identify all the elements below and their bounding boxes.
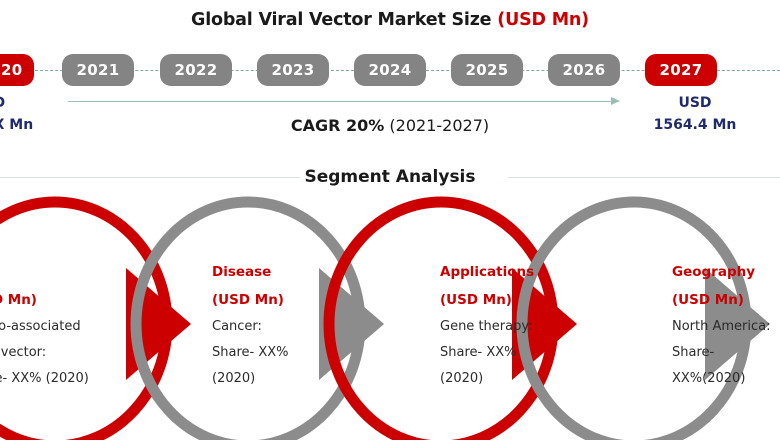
- segment-unit-type: (USD Mn): [0, 286, 140, 314]
- year-badge-2023[interactable]: 2023: [257, 54, 329, 86]
- segment-body-applications-line3: (2020): [440, 366, 570, 392]
- segment-body-type-line1: Adeno-associated: [0, 314, 140, 340]
- cagr-label: CAGR 20% (2021-2027): [0, 116, 780, 135]
- segment-body-geography-line3: XX%(2020): [672, 366, 780, 392]
- segment-text-type: Type (USD Mn) Adeno-associated virus vec…: [0, 258, 140, 392]
- year-badge-2024[interactable]: 2024: [354, 54, 426, 86]
- segment-body-disease-line1: Cancer:: [212, 314, 342, 340]
- segment-body-disease: Cancer: Share- XX% (2020): [212, 314, 342, 392]
- segment-body-geography: North America: Share- XX%(2020): [672, 314, 780, 392]
- cagr-arrow: [68, 96, 620, 108]
- year-badge-2024-label: 2024: [369, 61, 412, 79]
- market-value-start-line1: USD: [0, 92, 42, 114]
- segment-body-geography-line1: North America:: [672, 314, 780, 340]
- year-badge-2021[interactable]: 2021: [62, 54, 134, 86]
- segment-body-type: Adeno-associated virus vector: Share- XX…: [0, 314, 140, 392]
- segment-name-disease: Disease: [212, 258, 342, 286]
- segment-body-applications-line2: Share- XX%: [440, 340, 570, 366]
- year-badge-2022-label: 2022: [175, 61, 218, 79]
- year-timeline: 2020 2021 2022 2023 2024 2025 2026 2027: [0, 54, 780, 88]
- segment-body-applications: Gene therapy: Share- XX% (2020): [440, 314, 570, 392]
- segment-body-applications-line1: Gene therapy:: [440, 314, 570, 340]
- segment-unit-disease: (USD Mn): [212, 286, 342, 314]
- market-value-end-line1: USD: [645, 92, 745, 114]
- year-badge-2020[interactable]: 2020: [0, 54, 34, 86]
- year-badge-2027[interactable]: 2027: [645, 54, 717, 86]
- year-badge-2023-label: 2023: [272, 61, 315, 79]
- market-size-title-unit: (USD Mn): [497, 10, 589, 30]
- year-badge-2021-label: 2021: [77, 61, 120, 79]
- segment-text-applications: Applications (USD Mn) Gene therapy: Shar…: [440, 258, 570, 392]
- market-size-title: Global Viral Vector Market Size (USD Mn): [0, 10, 780, 30]
- segment-body-disease-line2: Share- XX%: [212, 340, 342, 366]
- segment-analysis-header: Segment Analysis: [0, 160, 780, 194]
- segment-unit-applications: (USD Mn): [440, 286, 570, 314]
- segment-analysis-heading: Segment Analysis: [0, 160, 780, 194]
- segment-name-type: Type: [0, 258, 140, 286]
- viral-vector-market-infographic: Global Viral Vector Market Size (USD Mn)…: [0, 0, 780, 440]
- year-badge-2025-label: 2025: [466, 61, 509, 79]
- year-badge-2022[interactable]: 2022: [160, 54, 232, 86]
- year-badge-2026-label: 2026: [563, 61, 606, 79]
- segment-body-geography-line2: Share-: [672, 340, 780, 366]
- year-badge-2020-label: 2020: [0, 61, 22, 79]
- segment-body-type-line3: Share- XX% (2020): [0, 366, 140, 392]
- segment-unit-geography: (USD Mn): [672, 286, 780, 314]
- year-badge-2027-label: 2027: [660, 61, 703, 79]
- segment-name-geography: Geography: [672, 258, 780, 286]
- segment-body-type-line2: virus vector:: [0, 340, 140, 366]
- cagr-arrow-line: [68, 101, 613, 102]
- cagr-value: CAGR 20%: [291, 116, 384, 135]
- year-badge-2026[interactable]: 2026: [548, 54, 620, 86]
- segment-text-disease: Disease (USD Mn) Cancer: Share- XX% (202…: [212, 258, 342, 392]
- segment-text-geography: Geography (USD Mn) North America: Share-…: [672, 258, 780, 392]
- cagr-period: (2021-2027): [389, 116, 489, 135]
- segment-chain: Type (USD Mn) Adeno-associated virus vec…: [0, 196, 780, 440]
- market-size-title-main: Global Viral Vector Market Size: [191, 10, 491, 30]
- cagr-arrow-head-icon: [611, 97, 620, 105]
- segment-body-disease-line3: (2020): [212, 366, 342, 392]
- segment-name-applications: Applications: [440, 258, 570, 286]
- year-badge-2025[interactable]: 2025: [451, 54, 523, 86]
